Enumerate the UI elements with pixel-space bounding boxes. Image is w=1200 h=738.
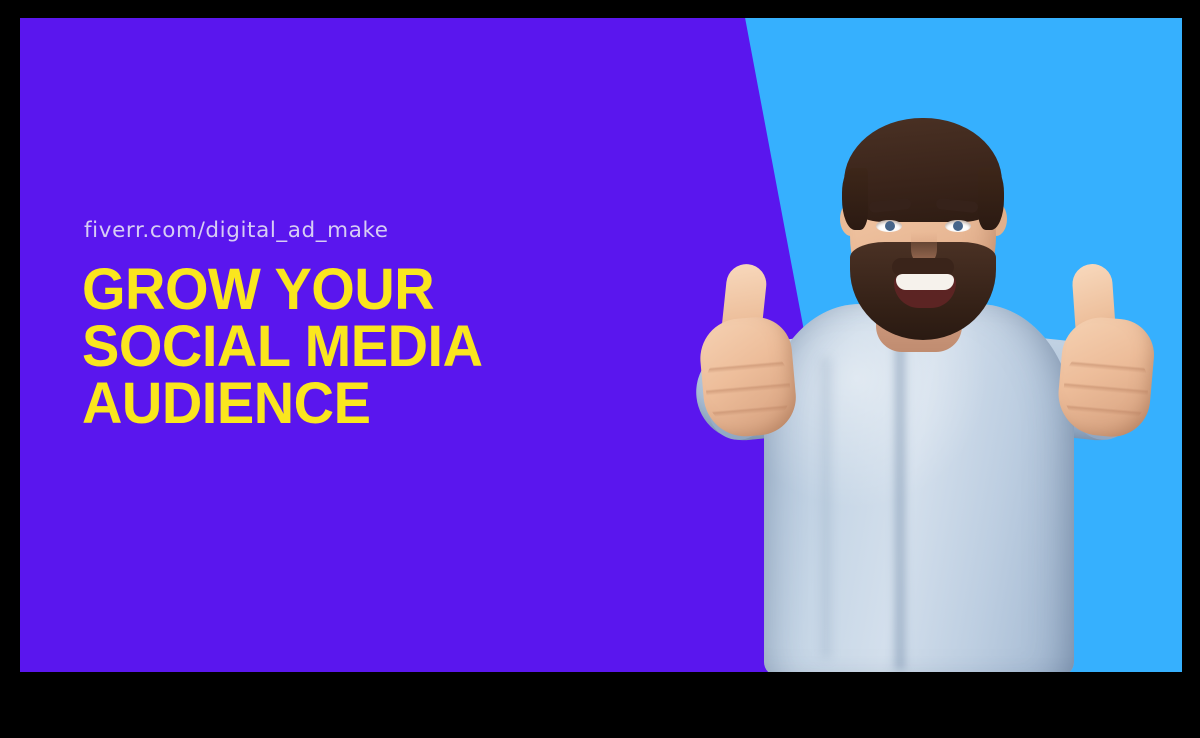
hair-side-right bbox=[978, 168, 1004, 230]
ad-canvas: fiverr.com/digital_ad_make GROW YOUR SOC… bbox=[20, 18, 1182, 672]
headline-line-2: SOCIAL MEDIA bbox=[82, 318, 622, 375]
headline-line-3: AUDIENCE bbox=[82, 375, 622, 432]
fiverr-url-text: fiverr.com/digital_ad_make bbox=[84, 218, 642, 243]
sweater-fold bbox=[892, 318, 908, 670]
hair-side-left bbox=[842, 168, 868, 230]
sweater-torso bbox=[764, 304, 1074, 672]
copy-block: fiverr.com/digital_ad_make GROW YOUR SOC… bbox=[82, 218, 642, 432]
person-photo bbox=[660, 18, 1182, 672]
headline-line-1: GROW YOUR bbox=[82, 261, 622, 318]
headline: GROW YOUR SOCIAL MEDIA AUDIENCE bbox=[82, 261, 622, 432]
sweater-fold bbox=[820, 358, 832, 658]
ad-banner-frame: fiverr.com/digital_ad_make GROW YOUR SOC… bbox=[0, 0, 1200, 738]
left-pupil bbox=[885, 221, 895, 231]
right-pupil bbox=[953, 221, 963, 231]
teeth bbox=[896, 274, 954, 290]
